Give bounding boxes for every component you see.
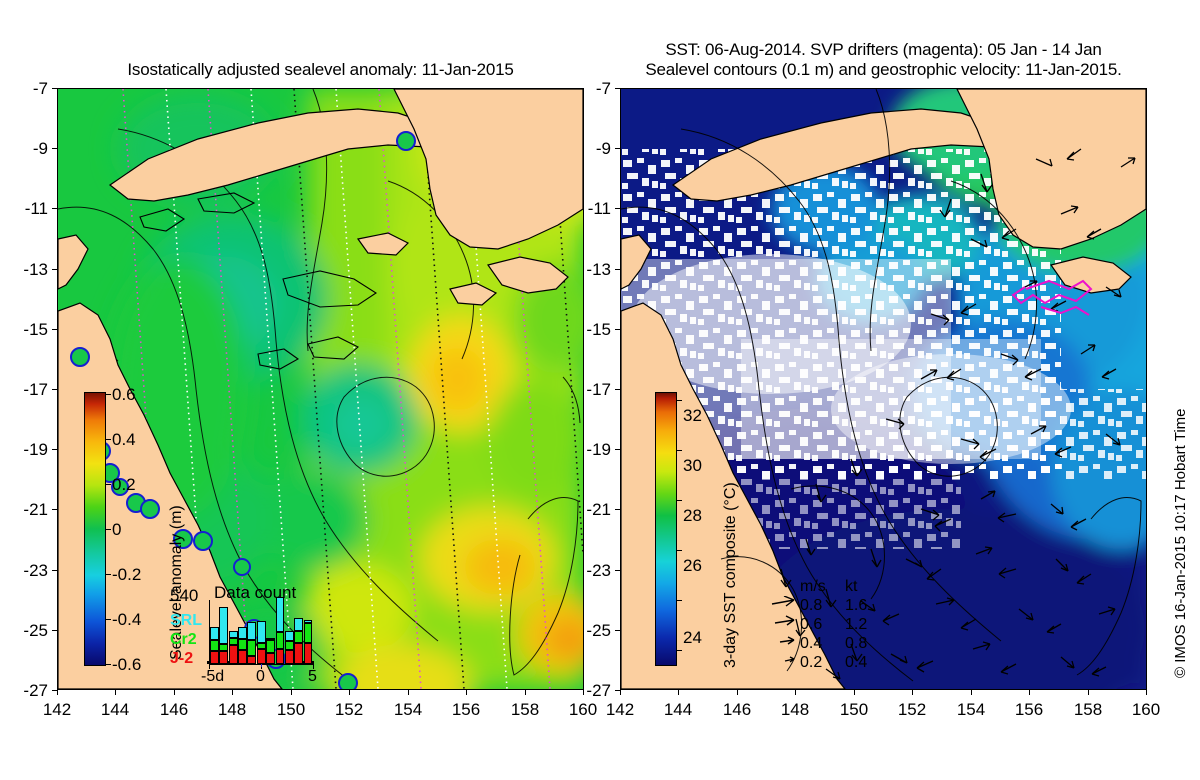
legend-j2: J-2 <box>170 650 193 668</box>
y2-tick-m19: -19 <box>571 440 611 460</box>
x2-tick-154: 154 <box>948 700 994 720</box>
velocity-legend-ms-0p4: 0.4 <box>800 635 822 653</box>
bar-segment <box>294 631 303 643</box>
y-tick-m23: -23 <box>8 561 48 581</box>
y2-tick-m9: -9 <box>571 139 611 159</box>
bar-segment <box>247 656 256 664</box>
x-tick-148: 148 <box>209 700 255 720</box>
y-tick-m17: -17 <box>8 380 48 400</box>
x-tick-158: 158 <box>502 700 548 720</box>
bar-segment <box>219 651 228 664</box>
bar-segment <box>238 627 247 638</box>
velocity-legend-arrows <box>770 596 802 672</box>
x-tick-144: 144 <box>92 700 138 720</box>
bar-segment <box>266 653 275 664</box>
x-tick-156: 156 <box>443 700 489 720</box>
bar-segment <box>229 638 238 645</box>
cb-left-0p4: 0.4 <box>112 430 136 450</box>
y-tick-m21: -21 <box>8 500 48 520</box>
bar-segment <box>238 650 247 664</box>
y2-tick-m21: -21 <box>571 500 611 520</box>
velocity-legend-kt-0p4: 0.4 <box>845 654 867 672</box>
velocity-legend-ms-0p2: 0.2 <box>800 654 822 672</box>
y-tick-m25: -25 <box>8 621 48 641</box>
bar-segment <box>210 627 219 640</box>
x2-tick-158: 158 <box>1065 700 1111 720</box>
y2-tick-m25: -25 <box>571 621 611 641</box>
bar-segment <box>219 644 228 651</box>
velocity-legend-ms-0p6: 0.6 <box>800 616 822 634</box>
y-tick-m11: -11 <box>8 199 48 219</box>
legend-cr2: Cr2 <box>170 631 197 649</box>
x2-tick-156: 156 <box>1006 700 1052 720</box>
y2-tick-m13: -13 <box>571 260 611 280</box>
bar-segment <box>285 650 294 664</box>
y-tick-m7: -7 <box>8 79 48 99</box>
velocity-legend-kt-1p2: 1.2 <box>845 616 867 634</box>
data-count-xtick-start: -5d <box>201 668 224 686</box>
bar-segment <box>238 639 247 650</box>
x-tick-154: 154 <box>385 700 431 720</box>
right-panel-title-line1: SST: 06-Aug-2014. SVP drifters (magenta)… <box>620 40 1147 60</box>
x-tick-150: 150 <box>268 700 314 720</box>
bar-segment <box>229 631 238 638</box>
bar-segment <box>285 641 294 650</box>
sst-field <box>621 89 1146 689</box>
bar-segment <box>304 643 313 664</box>
velocity-legend-header-kt: kt <box>845 578 857 596</box>
y2-tick-m23: -23 <box>571 561 611 581</box>
bar-segment <box>210 640 219 651</box>
bar-segment <box>210 651 219 664</box>
velocity-legend-ms-0p8: 0.8 <box>800 597 822 615</box>
left-panel-title: Isostatically adjusted sealevel anomaly:… <box>57 60 584 80</box>
bar-segment <box>285 631 294 640</box>
legend-srl: SRL <box>170 612 202 630</box>
bar-segment <box>229 645 238 664</box>
velocity-legend-kt-1p6: 1.6 <box>845 597 867 615</box>
right-panel-title-line2: Sealevel contours (0.1 m) and geostrophi… <box>612 60 1155 80</box>
cb-right-32: 32 <box>683 406 702 426</box>
y-tick-m13: -13 <box>8 260 48 280</box>
cb-right-24: 24 <box>683 628 702 648</box>
bar-segment <box>294 618 303 631</box>
sealevel-anomaly-map[interactable] <box>57 88 584 690</box>
y2-tick-m27: -27 <box>571 681 611 701</box>
velocity-legend-kt-0p8: 0.8 <box>845 635 867 653</box>
bar-segment <box>276 597 285 632</box>
bar-segment <box>257 621 266 643</box>
x-tick-146: 146 <box>151 700 197 720</box>
y-tick-m15: -15 <box>8 320 48 340</box>
data-count-bars <box>210 600 313 664</box>
cb-left-m0p2: -0.2 <box>112 565 141 585</box>
data-count-xtick-zero: 0 <box>256 668 265 686</box>
bar-segment <box>266 640 275 653</box>
bar-segment <box>247 622 256 640</box>
imos-credit: © IMOS 16-Jan-2015 10:17 Hobart Time <box>1172 408 1189 678</box>
data-count-xtick-end: 5 <box>308 668 317 686</box>
y2-tick-m15: -15 <box>571 320 611 340</box>
bar-segment <box>257 649 266 664</box>
cb-right-30: 30 <box>683 456 702 476</box>
cb-left-0p2: 0.2 <box>112 475 136 495</box>
x2-tick-142: 142 <box>597 700 643 720</box>
x2-tick-146: 146 <box>714 700 760 720</box>
bar-segment <box>247 640 256 655</box>
x2-tick-150: 150 <box>831 700 877 720</box>
y2-tick-m17: -17 <box>571 380 611 400</box>
bar-segment <box>219 607 228 644</box>
y-tick-m27: -27 <box>8 681 48 701</box>
cb-left-0: 0 <box>112 520 121 540</box>
x2-tick-152: 152 <box>889 700 935 720</box>
sst-colorbar-label: 3-day SST composite (°C) <box>722 482 740 668</box>
y-tick-m19: -19 <box>8 440 48 460</box>
bar-segment <box>266 638 275 640</box>
y2-tick-m11: -11 <box>571 199 611 219</box>
cb-right-26: 26 <box>683 556 702 576</box>
bar-segment <box>276 649 285 664</box>
cb-left-m0p4: -0.4 <box>112 610 141 630</box>
x2-tick-148: 148 <box>772 700 818 720</box>
x-tick-142: 142 <box>34 700 80 720</box>
bar-segment <box>294 643 303 664</box>
cb-left-m0p6: -0.6 <box>112 655 141 675</box>
sst-colorbar <box>655 392 677 666</box>
bar-segment <box>276 632 285 649</box>
bar-segment <box>304 623 313 643</box>
bar-segment <box>257 643 266 648</box>
cb-left-0p6: 0.6 <box>112 385 136 405</box>
x2-tick-144: 144 <box>655 700 701 720</box>
sealevel-anomaly-field <box>58 89 583 689</box>
x2-tick-160: 160 <box>1123 700 1169 720</box>
x-tick-152: 152 <box>326 700 372 720</box>
y2-tick-m7: -7 <box>571 79 611 99</box>
data-count-max-label: 540 <box>170 586 198 606</box>
cb-right-28: 28 <box>683 506 702 526</box>
y-tick-m9: -9 <box>8 139 48 159</box>
bar-segment <box>304 620 313 624</box>
sealevel-anomaly-colorbar <box>84 392 106 666</box>
velocity-legend-header-ms: m/s <box>800 578 826 596</box>
sst-velocity-map[interactable] <box>620 88 1147 690</box>
